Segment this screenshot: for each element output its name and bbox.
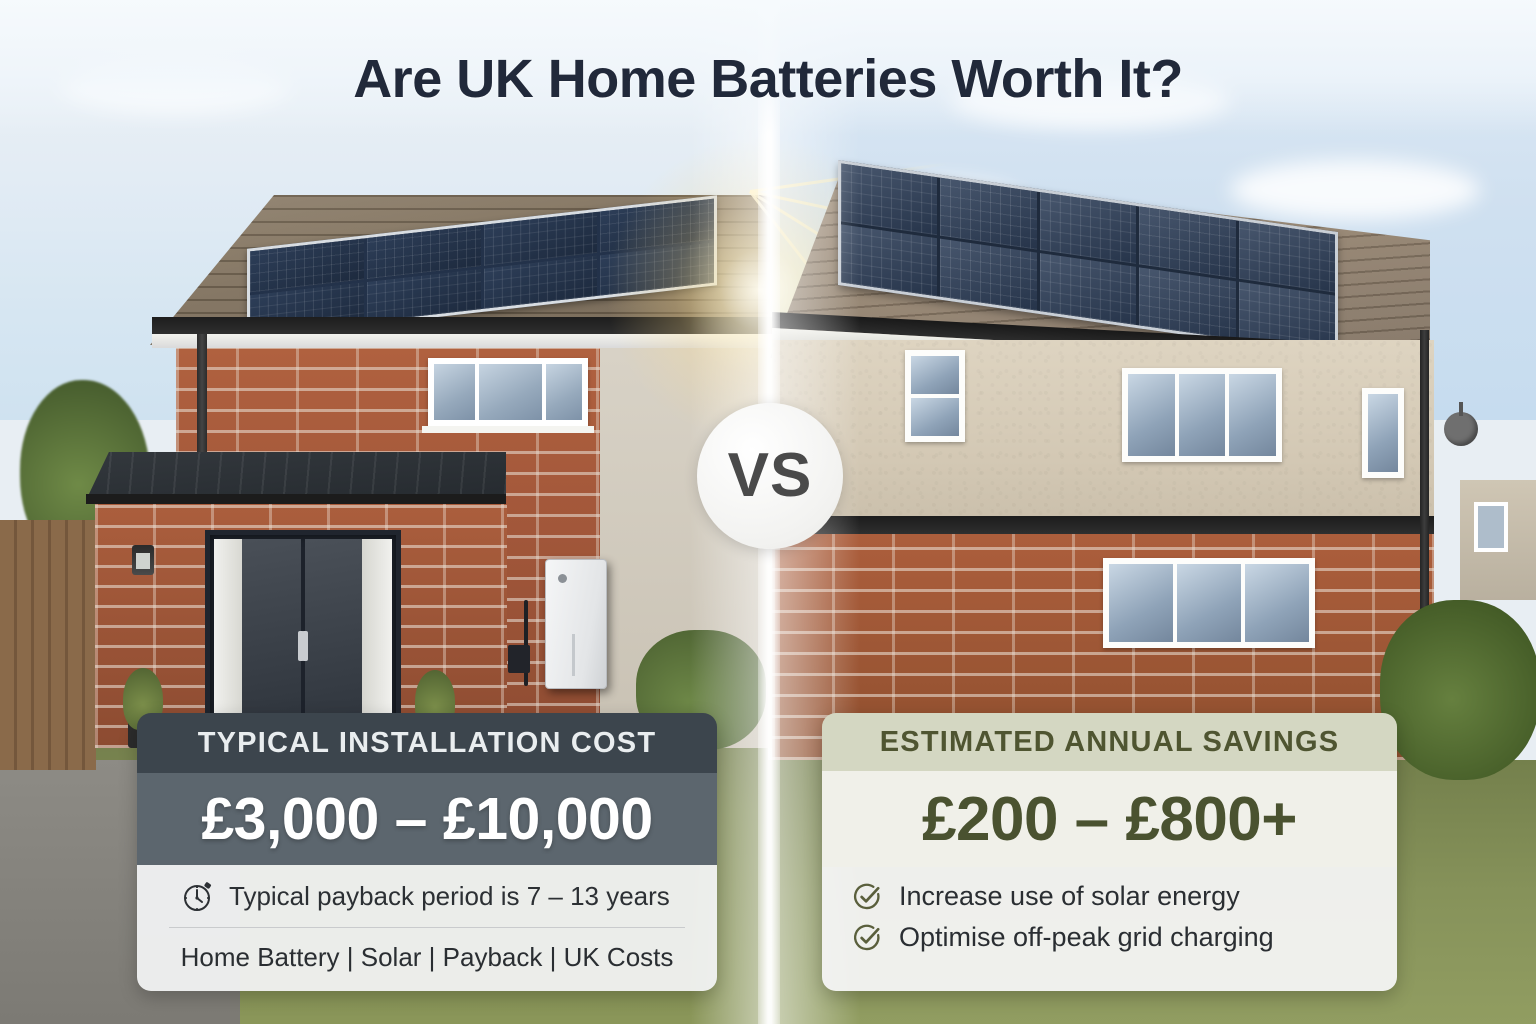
page-title: Are UK Home Batteries Worth It? <box>0 48 1536 110</box>
versus-badge-icon: VS <box>697 403 843 549</box>
benefit-text: Optimise off-peak grid charging <box>899 922 1274 953</box>
cloud-shape <box>1230 160 1480 220</box>
cost-card-header: TYPICAL INSTALLATION COST <box>137 713 717 773</box>
cost-card-footer: Typical payback period is 7 – 13 years H… <box>137 865 717 991</box>
right-house-window <box>905 350 965 442</box>
right-house-ground-window <box>1103 558 1315 648</box>
savings-card-header: ESTIMATED ANNUAL SAVINGS <box>822 713 1397 771</box>
cost-card-tags: Home Battery | Solar | Payback | UK Cost… <box>159 928 695 973</box>
home-battery-unit <box>545 559 607 689</box>
payback-note-text: Typical payback period is 7 – 13 years <box>229 881 670 912</box>
porch-fascia <box>86 494 506 504</box>
payback-note-row: Typical payback period is 7 – 13 years <box>159 879 695 913</box>
circle-check-icon <box>852 922 883 953</box>
annual-savings-card: ESTIMATED ANNUAL SAVINGS £200 – £800+ In… <box>822 713 1397 991</box>
infographic-canvas: VS Are UK Home Batteries Worth It? TYPIC… <box>0 0 1536 1024</box>
satellite-dish-icon <box>1444 412 1478 446</box>
battery-cable <box>524 600 528 686</box>
house-trim-band <box>772 516 1434 534</box>
installation-cost-card: TYPICAL INSTALLATION COST £3,000 – £10,0… <box>137 713 717 991</box>
benefit-text: Increase use of solar energy <box>899 881 1240 912</box>
garden-shrub <box>1380 600 1536 780</box>
circle-check-icon <box>852 881 883 912</box>
cost-card-value: £3,000 – £10,000 <box>137 773 717 865</box>
window-sill <box>422 426 594 433</box>
benefit-row: Optimise off-peak grid charging <box>852 922 1367 953</box>
right-house-window <box>1362 388 1404 478</box>
roof-fascia <box>152 317 772 334</box>
render-texture <box>772 340 1434 540</box>
garden-fence-left <box>0 520 96 770</box>
right-house-window <box>1122 368 1282 462</box>
savings-card-value: £200 – £800+ <box>822 771 1397 867</box>
versus-label: VS <box>728 445 813 507</box>
benefit-row: Increase use of solar energy <box>852 881 1367 912</box>
battery-isolator-box <box>508 645 530 673</box>
right-house-render-wall <box>772 340 1434 540</box>
stopwatch-icon <box>181 879 215 913</box>
roof-soffit <box>152 334 772 348</box>
left-house-upper-window <box>428 358 588 426</box>
savings-card-footer: Increase use of solar energy Optimise of… <box>822 867 1397 991</box>
porch-roof <box>88 452 506 496</box>
wall-lantern-icon <box>132 545 154 575</box>
porch-roof-texture <box>88 452 506 496</box>
